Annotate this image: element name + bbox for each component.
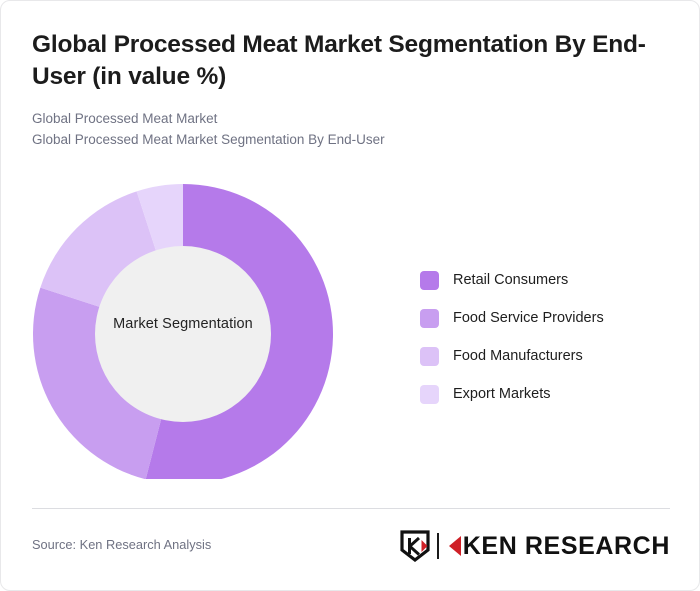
chart-header: Global Processed Meat Market Segmentatio… (32, 29, 668, 151)
footer-divider (32, 508, 670, 509)
logo-text: KEN RESEARCH (463, 534, 670, 559)
legend-label: Retail Consumers (453, 272, 568, 288)
subtitle-market: Global Processed Meat Market (32, 109, 668, 130)
chart-subtitles: Global Processed Meat Market Global Proc… (32, 109, 668, 151)
legend-item[interactable]: Food Manufacturers (420, 337, 675, 375)
legend-item[interactable]: Export Markets (420, 375, 675, 413)
source-note: Source: Ken Research Analysis (32, 537, 211, 552)
subtitle-segmentation: Global Processed Meat Market Segmentatio… (32, 130, 668, 151)
legend-swatch (420, 271, 439, 290)
red-triangle-icon (448, 535, 463, 557)
legend-item[interactable]: Food Service Providers (420, 299, 675, 337)
page-title: Global Processed Meat Market Segmentatio… (32, 29, 668, 93)
legend-item[interactable]: Retail Consumers (420, 261, 675, 299)
logo-divider (437, 533, 439, 559)
chart-footer: Source: Ken Research Analysis KEN RESEAR… (32, 521, 670, 571)
legend-swatch (420, 385, 439, 404)
legend-swatch (420, 347, 439, 366)
plot-area: Market Segmentation Retail ConsumersFood… (1, 169, 700, 499)
chart-legend: Retail ConsumersFood Service ProvidersFo… (420, 261, 675, 413)
ken-research-wordmark: KEN RESEARCH (448, 534, 670, 559)
legend-label: Export Markets (453, 386, 551, 402)
donut-hole (95, 246, 271, 422)
donut-svg (32, 169, 334, 479)
legend-label: Food Manufacturers (453, 348, 583, 364)
legend-swatch (420, 309, 439, 328)
legend-label: Food Service Providers (453, 310, 604, 326)
ken-research-logo: KEN RESEARCH (400, 524, 670, 568)
donut-chart: Market Segmentation (32, 169, 334, 479)
ken-research-badge-icon (400, 530, 430, 562)
chart-card: Global Processed Meat Market Segmentatio… (0, 0, 700, 591)
